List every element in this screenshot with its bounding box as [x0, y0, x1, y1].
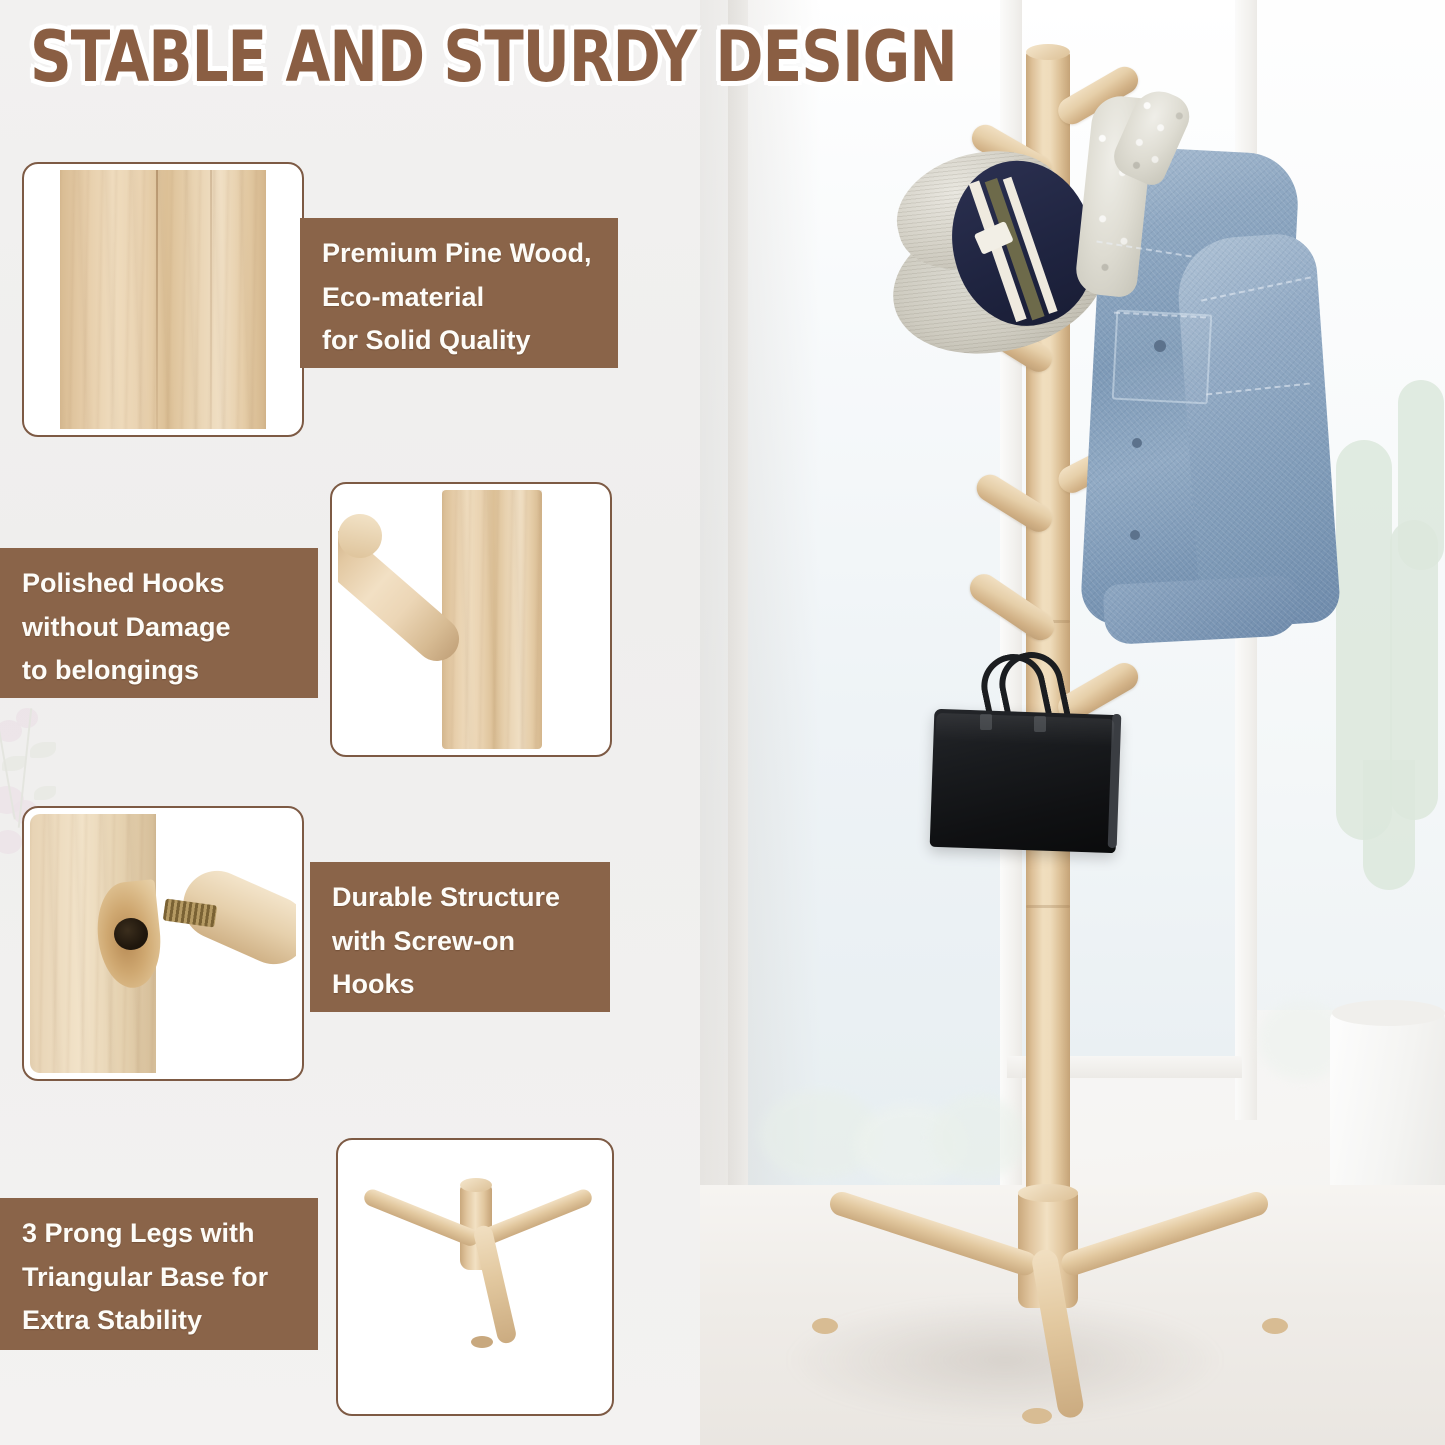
- rack-base-hub-cap: [1018, 1184, 1078, 1202]
- feature-3-line-1: Durable Structure: [332, 876, 586, 920]
- feature-label-premium-pine-wood: Premium Pine Wood, Eco-material for Soli…: [300, 218, 618, 368]
- feature-label-polished-hooks: Polished Hooks without Damage to belongi…: [0, 548, 318, 698]
- jacket-pocket-button: [1154, 340, 1166, 352]
- denim-jacket: [1070, 88, 1320, 648]
- feature-4-line-3: Extra Stability: [22, 1299, 294, 1343]
- feature-2-line-2: without Damage: [22, 606, 294, 650]
- jacket-button-1: [1132, 438, 1142, 448]
- feature-2-line-1: Polished Hooks: [22, 562, 294, 606]
- rack-leg-front-tip: [1022, 1408, 1052, 1424]
- feature-1-line-2: Eco-material: [322, 276, 594, 320]
- feature-2-line-3: to belongings: [22, 649, 294, 693]
- jacket-button-2: [1130, 530, 1140, 540]
- feature-1-line-1: Premium Pine Wood,: [322, 232, 594, 276]
- rack-leg-left: [827, 1189, 1040, 1279]
- rack-leg-right-tip: [1262, 1318, 1288, 1334]
- infographic-canvas: STABLE AND STURDY DESIGN Premium Pine Wo…: [0, 0, 1445, 1445]
- rack-leg-right: [1058, 1189, 1271, 1279]
- feature-1-line-3: for Solid Quality: [322, 319, 594, 363]
- jacket-chest-pocket: [1112, 310, 1213, 405]
- feature-4-line-2: Triangular Base for: [22, 1256, 294, 1300]
- feature-label-durable-structure: Durable Structure with Screw-on Hooks: [310, 862, 610, 1012]
- feature-label-three-prong-legs: 3 Prong Legs with Triangular Base for Ex…: [0, 1198, 318, 1350]
- feature-3-line-3: Hooks: [332, 963, 586, 1007]
- rack-post-top-cap: [1026, 44, 1070, 60]
- feature-3-line-2: with Screw-on: [332, 920, 586, 964]
- post-joint-2: [1026, 905, 1070, 908]
- black-briefcase: [930, 652, 1140, 902]
- rack-leg-left-tip: [812, 1318, 838, 1334]
- feature-4-line-1: 3 Prong Legs with: [22, 1212, 294, 1256]
